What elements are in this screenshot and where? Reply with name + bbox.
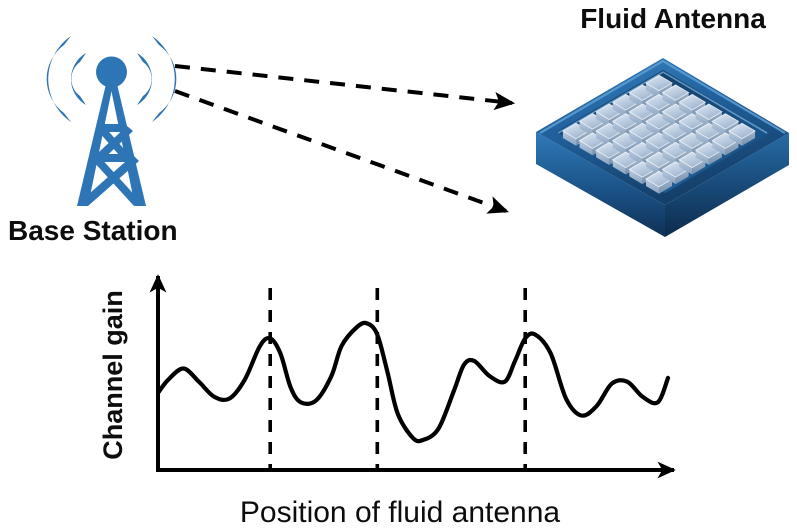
tower-head	[96, 57, 127, 88]
figure-root: Fluid Antenna Base Station Channel gain …	[0, 0, 797, 532]
base-station-label: Base Station	[8, 215, 178, 246]
chart-y-axis-label: Channel gain	[98, 290, 128, 460]
chart-x-axis-label: Position of fluid antenna	[240, 496, 561, 529]
fluid-antenna-system-figure: Fluid Antenna Base Station Channel gain …	[0, 0, 797, 532]
fluid-antenna-label: Fluid Antenna	[580, 3, 766, 34]
